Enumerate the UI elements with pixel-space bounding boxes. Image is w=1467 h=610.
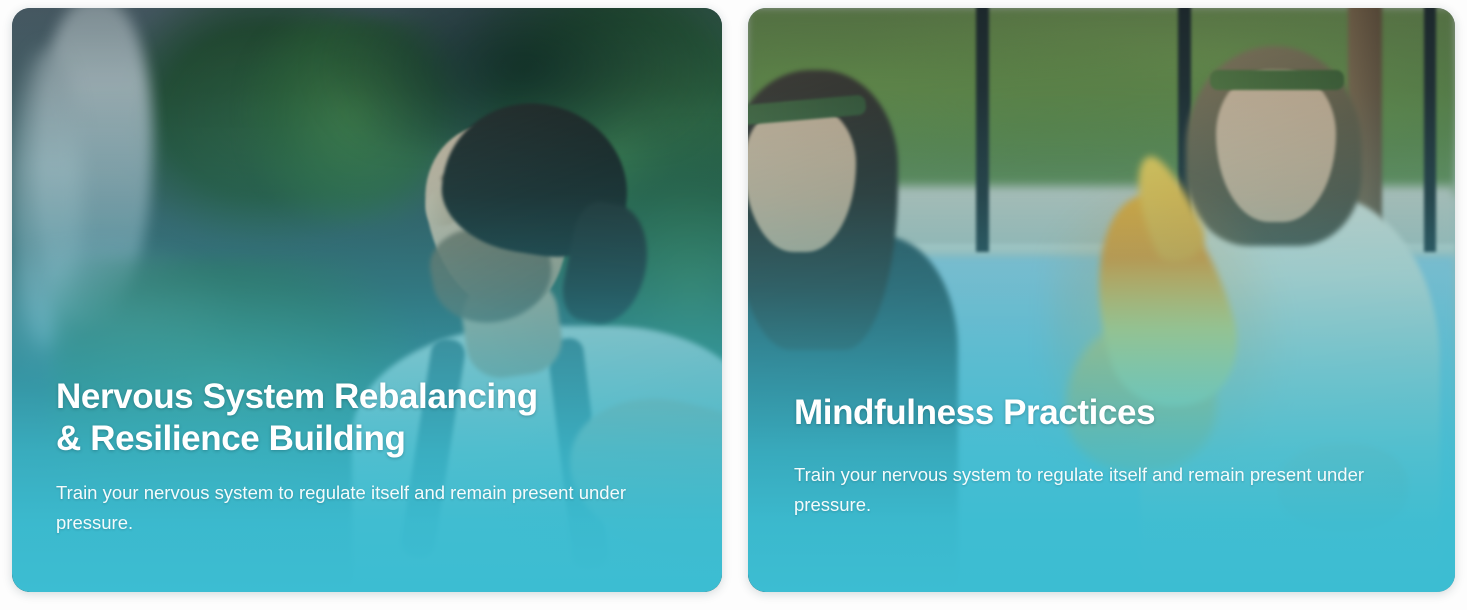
card-content: Mindfulness Practices Train your nervous… — [748, 392, 1455, 592]
card-mindfulness-practices[interactable]: Mindfulness Practices Train your nervous… — [748, 8, 1455, 592]
card-description: Train your nervous system to regulate it… — [56, 478, 678, 538]
card-content: Nervous System Rebalancing & Resilience … — [12, 376, 722, 592]
card-description: Train your nervous system to regulate it… — [794, 460, 1409, 520]
card-title: Mindfulness Practices — [794, 392, 1409, 434]
card-nervous-system-rebalancing[interactable]: Nervous System Rebalancing & Resilience … — [12, 8, 722, 592]
card-grid: Nervous System Rebalancing & Resilience … — [0, 0, 1467, 610]
card-title: Nervous System Rebalancing & Resilience … — [56, 376, 678, 460]
